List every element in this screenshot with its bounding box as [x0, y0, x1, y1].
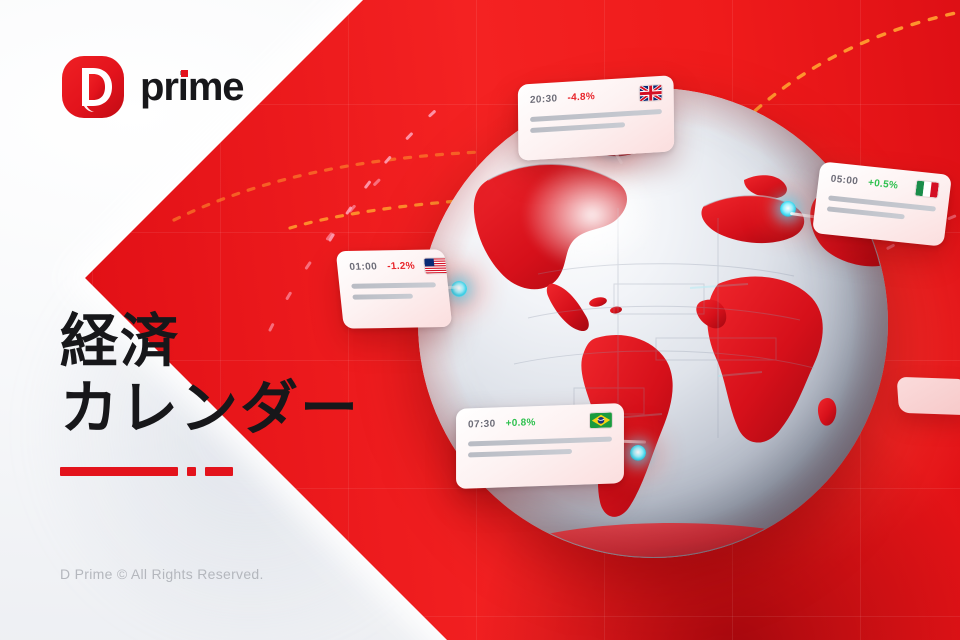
- brand-wordmark-text: prime: [140, 65, 243, 109]
- card-line: [351, 282, 436, 288]
- copyright-text: D Prime © All Rights Reserved.: [60, 566, 264, 582]
- card-placeholder-lines: [518, 102, 674, 152]
- card-value: +0.8%: [506, 417, 536, 429]
- d-prime-logo-icon: [60, 54, 126, 120]
- event-card-italy[interactable]: 05:00 +0.5%: [812, 161, 952, 246]
- brand-wordmark: prime: [140, 67, 243, 107]
- headline-line-2: カレンダー: [60, 375, 360, 442]
- logo-i-dot: [181, 70, 188, 77]
- card-value: +0.5%: [867, 177, 898, 191]
- rule-segment-mid: [205, 467, 233, 476]
- headline-line-1: 経済: [60, 308, 360, 375]
- rule-segment-long: [60, 467, 178, 476]
- card-time: 01:00: [349, 261, 378, 272]
- italy-flag-icon: [915, 181, 939, 198]
- card-time: 05:00: [830, 174, 859, 188]
- card-time: 20:30: [530, 93, 558, 106]
- uk-flag-icon: [640, 85, 662, 101]
- page-title: 経済 カレンダー: [60, 308, 360, 476]
- card-value: -1.2%: [387, 261, 416, 272]
- card-line: [468, 436, 612, 446]
- title-underline-rule: [60, 467, 360, 476]
- card-line: [530, 122, 625, 133]
- card-line: [352, 294, 413, 300]
- brand-logo[interactable]: prime: [60, 54, 243, 120]
- card-time: 07:30: [468, 419, 496, 431]
- card-placeholder-lines: [456, 430, 624, 476]
- brazil-flag-icon: [590, 412, 612, 428]
- event-card-brazil[interactable]: 07:30 +0.8%: [456, 403, 624, 489]
- card-line: [827, 206, 905, 219]
- card-line: [468, 449, 572, 458]
- marker-brazil[interactable]: [630, 445, 646, 461]
- event-card-partial[interactable]: [897, 377, 960, 415]
- card-header-row: 01:00 -1.2%: [336, 249, 447, 278]
- event-card-uk[interactable]: 20:30 -4.8%: [518, 75, 674, 161]
- banner-stage: 20:30 -4.8% 05:00 +0.5%: [0, 0, 960, 640]
- card-value: -4.8%: [567, 91, 595, 104]
- card-line: [530, 109, 662, 122]
- rule-segment-dot: [187, 467, 196, 476]
- us-flag-icon: [424, 258, 448, 273]
